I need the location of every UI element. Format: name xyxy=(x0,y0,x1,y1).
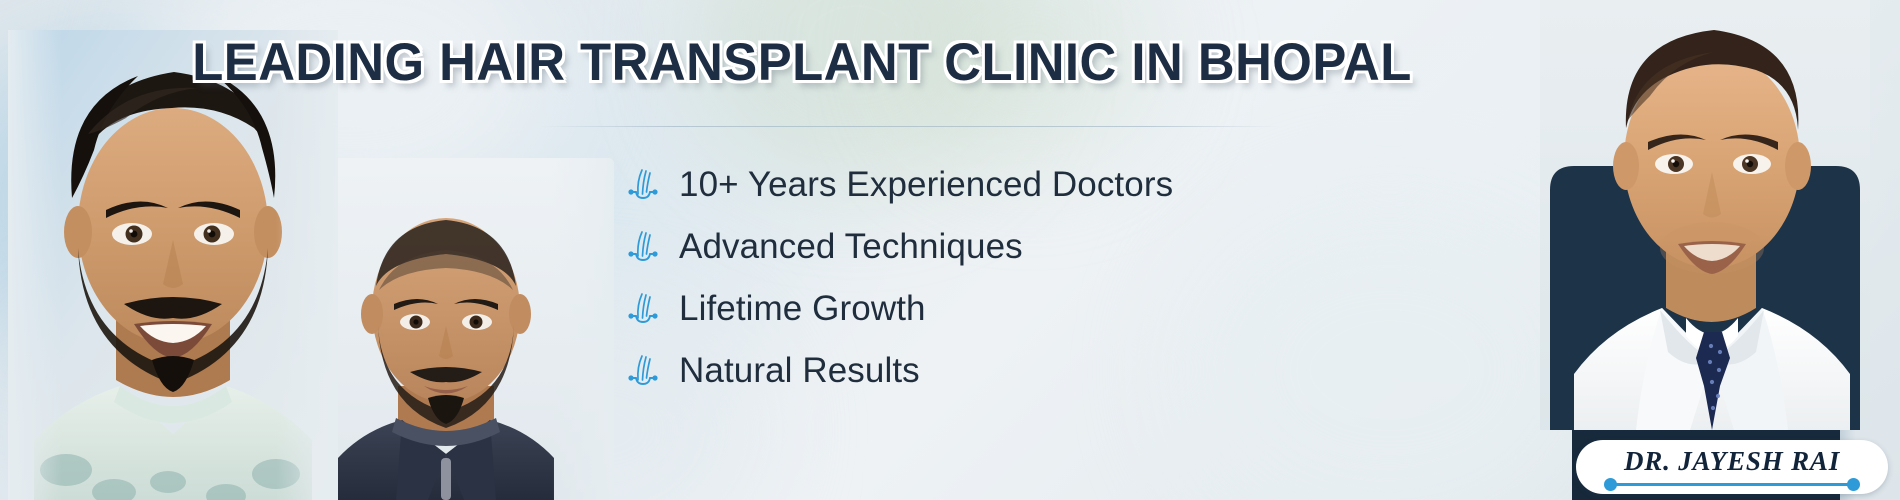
feature-label: Natural Results xyxy=(679,351,920,391)
feature-item: Lifetime Growth xyxy=(626,287,1326,331)
feature-label: 10+ Years Experienced Doctors xyxy=(679,165,1173,205)
feature-list: 10+ Years Experienced Doctors Advan xyxy=(626,163,1326,393)
hair-follicle-icon xyxy=(626,167,660,203)
feature-item: Natural Results xyxy=(626,349,1326,393)
hair-transplant-banner: LEADING HAIR TRANSPLANT CLINIC IN BHOPAL xyxy=(0,0,1900,500)
hair-follicle-icon xyxy=(626,229,660,265)
background-blur-shape xyxy=(690,0,1020,190)
hair-follicle-icon xyxy=(626,291,660,327)
badge-dot-left xyxy=(1604,478,1617,491)
badge-dot-right xyxy=(1847,478,1860,491)
headline-divider xyxy=(540,126,1280,127)
doctor-name-badge: DR. JAYESH RAI xyxy=(1576,440,1888,494)
doctor-name: DR. JAYESH RAI xyxy=(1624,447,1840,476)
feature-label: Lifetime Growth xyxy=(679,289,926,329)
photo-edge-fade xyxy=(552,158,614,500)
feature-label: Advanced Techniques xyxy=(679,227,1023,267)
photo-edge-fade xyxy=(276,30,338,500)
banner-headline: LEADING HAIR TRANSPLANT CLINIC IN BHOPAL xyxy=(351,33,1253,93)
badge-underline-line xyxy=(1611,483,1853,486)
badge-underline xyxy=(1604,479,1860,489)
feature-item: Advanced Techniques xyxy=(626,225,1326,269)
hair-follicle-icon xyxy=(626,353,660,389)
feature-item: 10+ Years Experienced Doctors xyxy=(626,163,1326,207)
photo-edge-fade xyxy=(8,30,62,500)
patient-after-photo xyxy=(8,30,338,500)
doctor-portrait xyxy=(1540,0,1870,430)
